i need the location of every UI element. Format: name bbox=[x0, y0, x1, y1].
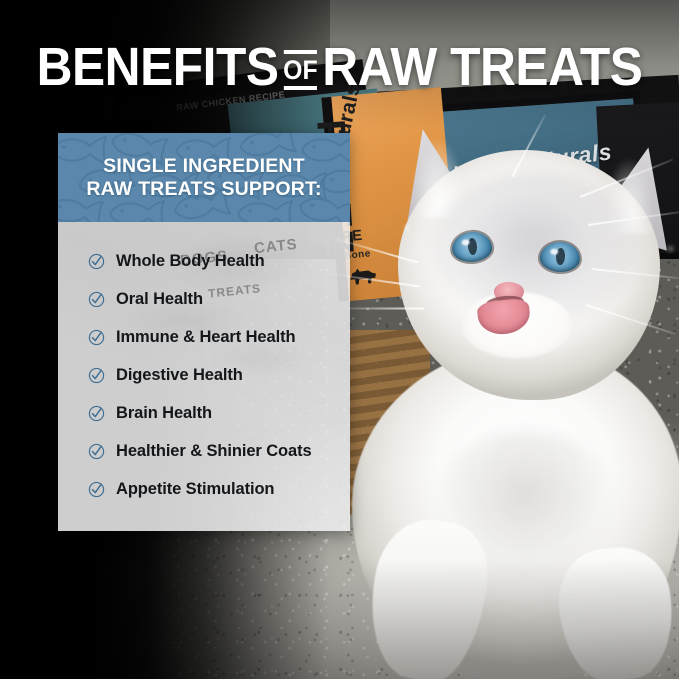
benefit-label: Digestive Health bbox=[116, 366, 243, 385]
panel-header: SINGLE INGREDIENT RAW TREATS SUPPORT: bbox=[58, 133, 350, 222]
title-word-of: OF bbox=[283, 57, 318, 84]
check-circle-icon bbox=[88, 367, 105, 384]
benefit-label: Immune & Heart Health bbox=[116, 328, 295, 347]
check-circle-icon bbox=[88, 443, 105, 460]
benefit-item-digestive-health: Digestive Health bbox=[58, 356, 350, 394]
check-circle-icon bbox=[88, 481, 105, 498]
cat-eye-right bbox=[539, 241, 581, 273]
benefit-label: Appetite Stimulation bbox=[116, 480, 274, 499]
benefit-item-oral-health: Oral Health bbox=[58, 280, 350, 318]
benefit-item-healthier-shinier-coats: Healthier & Shinier Coats bbox=[58, 432, 350, 470]
benefit-item-brain-health: Brain Health bbox=[58, 394, 350, 432]
whisker-3 bbox=[344, 308, 424, 310]
check-circle-icon bbox=[88, 253, 105, 270]
benefit-item-immune-heart-health: Immune & Heart Health bbox=[58, 318, 350, 356]
check-circle-icon bbox=[88, 329, 105, 346]
title-word-raw-treats: RAW TREATS bbox=[322, 40, 642, 94]
panel-header-title: SINGLE INGREDIENT RAW TREATS SUPPORT: bbox=[86, 155, 321, 201]
page-title: BENEFITSOFRAW TREATS bbox=[27, 40, 652, 94]
benefits-list: Whole Body Health Oral Health Immune & H… bbox=[58, 242, 350, 508]
infographic-canvas: RAW CHICKEN RECIPE turals FREEZ rvest Na… bbox=[0, 0, 679, 679]
benefit-label: Whole Body Health bbox=[116, 252, 265, 271]
panel-body: DOGS CATS TREATS Whole Body Health bbox=[58, 222, 350, 531]
benefit-label: Healthier & Shinier Coats bbox=[116, 442, 312, 461]
benefit-label: Oral Health bbox=[116, 290, 203, 309]
benefits-panel: SINGLE INGREDIENT RAW TREATS SUPPORT: DO… bbox=[58, 133, 350, 531]
benefit-label: Brain Health bbox=[116, 404, 212, 423]
bottom-vignette bbox=[0, 559, 679, 679]
benefit-item-whole-body-health: Whole Body Health bbox=[58, 242, 350, 280]
check-circle-icon bbox=[88, 405, 105, 422]
title-word-benefits: BENEFITS bbox=[37, 40, 279, 94]
cat-eye-left bbox=[451, 231, 493, 264]
benefit-item-appetite-stimulation: Appetite Stimulation bbox=[58, 470, 350, 508]
check-circle-icon bbox=[88, 291, 105, 308]
